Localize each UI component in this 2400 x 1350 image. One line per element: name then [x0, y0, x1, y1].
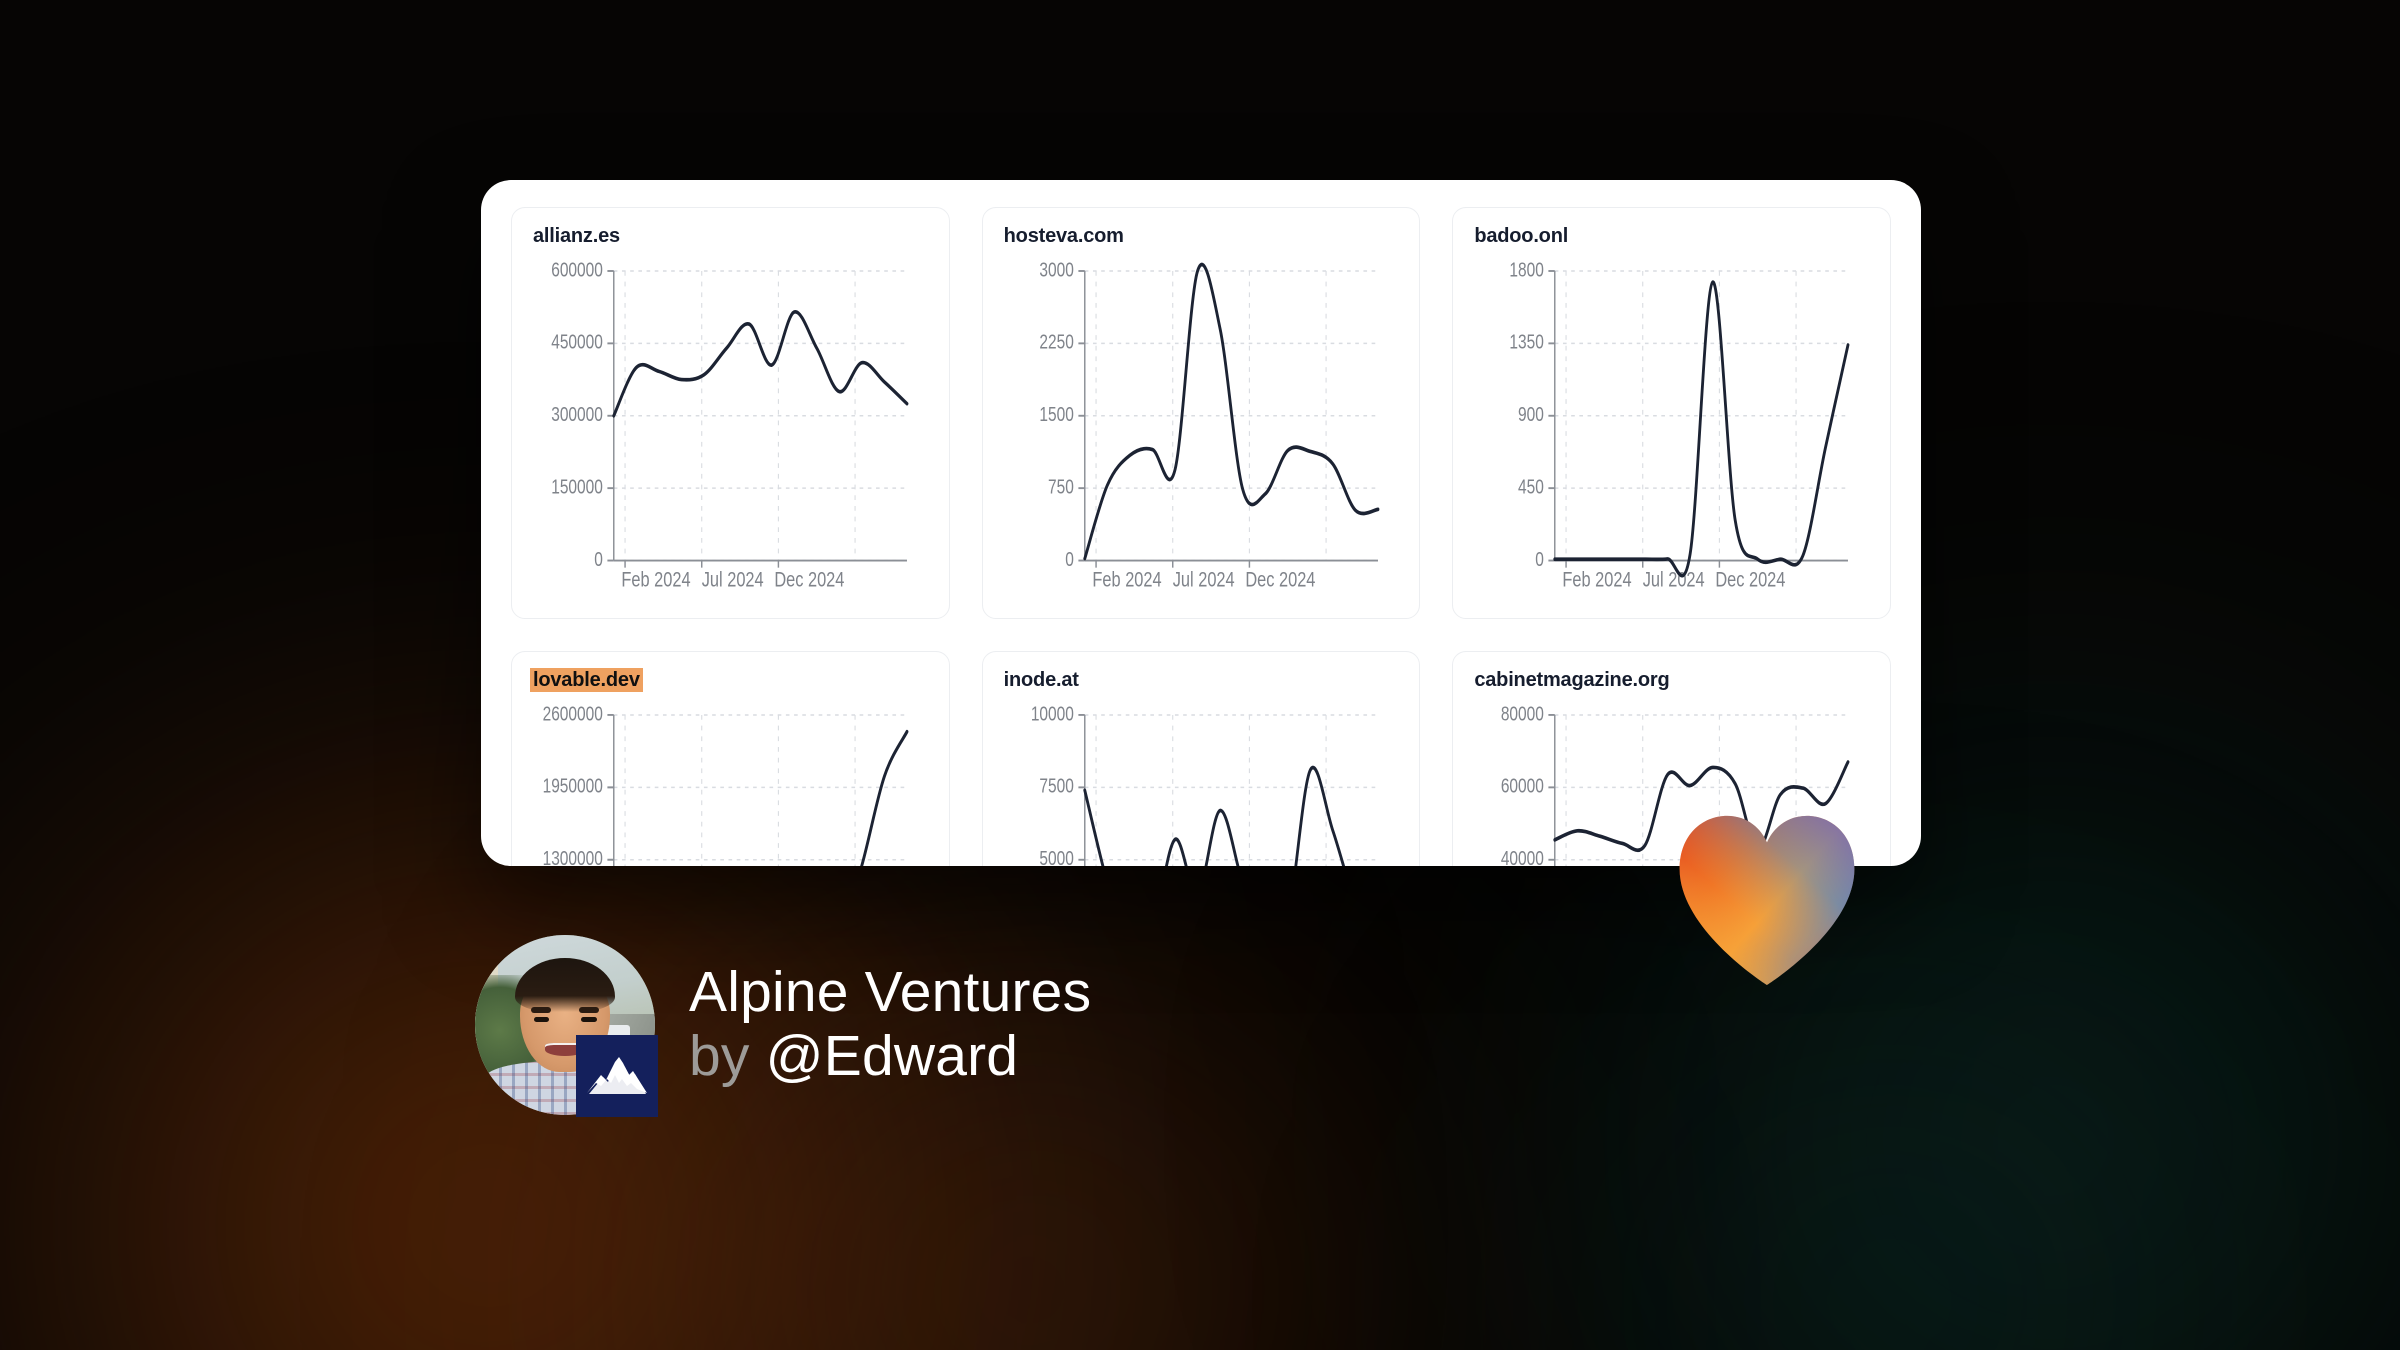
brand-byline: by @Edward [689, 1025, 1091, 1089]
svg-text:0: 0 [1536, 548, 1545, 570]
svg-text:0: 0 [1065, 548, 1074, 570]
svg-text:60000: 60000 [1501, 775, 1544, 797]
svg-text:450: 450 [1518, 476, 1544, 498]
svg-text:1950000: 1950000 [543, 775, 603, 797]
chart-grid: allianz.es0150000300000450000600000Feb 2… [481, 180, 1921, 866]
chart-title[interactable]: cabinetmagazine.org [1471, 668, 1672, 692]
byline-prefix: by [689, 1024, 750, 1088]
chart-title[interactable]: allianz.es [530, 224, 623, 248]
svg-text:40000: 40000 [1501, 847, 1544, 866]
svg-text:1350: 1350 [1510, 331, 1544, 353]
avatar-eye-right [581, 1017, 596, 1022]
svg-text:3000: 3000 [1039, 258, 1073, 280]
svg-text:Dec 2024: Dec 2024 [1716, 569, 1786, 593]
svg-text:1800: 1800 [1510, 258, 1544, 280]
heart-icon [1672, 812, 1862, 987]
svg-text:7500: 7500 [1039, 775, 1073, 797]
svg-text:600000: 600000 [551, 258, 603, 280]
avatar-group [475, 935, 655, 1115]
chart-title[interactable]: lovable.dev [530, 668, 643, 692]
mountain-icon [576, 1035, 658, 1117]
svg-text:Feb 2024: Feb 2024 [621, 569, 691, 593]
svg-text:10000: 10000 [1030, 702, 1073, 724]
identity-text: Alpine Ventures by @Edward [689, 961, 1091, 1089]
line-chart: 25005000750010000 [1001, 696, 1402, 866]
avatar-brow-left [531, 1007, 551, 1013]
svg-text:900: 900 [1518, 403, 1544, 425]
chart-title[interactable]: badoo.onl [1471, 224, 1571, 248]
chart-title[interactable]: hosteva.com [1001, 224, 1127, 248]
avatar-brow-right [579, 1007, 599, 1013]
svg-text:0: 0 [594, 548, 603, 570]
avatar-eye-left [534, 1017, 549, 1022]
chart-card[interactable]: hosteva.com0750150022503000Feb 2024Jul 2… [982, 207, 1421, 619]
svg-text:150000: 150000 [551, 476, 603, 498]
svg-text:750: 750 [1048, 476, 1074, 498]
svg-text:5000: 5000 [1039, 847, 1073, 866]
svg-text:Jul 2024: Jul 2024 [1643, 569, 1705, 593]
chart-card[interactable]: allianz.es0150000300000450000600000Feb 2… [511, 207, 950, 619]
svg-text:80000: 80000 [1501, 702, 1544, 724]
line-chart: 0750150022503000Feb 2024Jul 2024Dec 2024 [1001, 252, 1402, 608]
footer-identity: Alpine Ventures by @Edward [475, 935, 1091, 1115]
svg-text:2600000: 2600000 [543, 702, 603, 724]
brand-name: Alpine Ventures [689, 961, 1091, 1025]
svg-text:300000: 300000 [551, 403, 603, 425]
svg-text:450000: 450000 [551, 331, 603, 353]
svg-text:2250: 2250 [1039, 331, 1073, 353]
brand-handle: @Edward [766, 1024, 1019, 1088]
svg-text:Jul 2024: Jul 2024 [702, 569, 764, 593]
line-chart: 0150000300000450000600000Feb 2024Jul 202… [530, 252, 931, 608]
chart-card[interactable]: badoo.onl045090013501800Feb 2024Jul 2024… [1452, 207, 1891, 619]
svg-text:Feb 2024: Feb 2024 [1563, 569, 1633, 593]
svg-text:Jul 2024: Jul 2024 [1172, 569, 1234, 593]
line-chart: 650000130000019500002600000 [530, 696, 931, 866]
svg-text:Feb 2024: Feb 2024 [1092, 569, 1162, 593]
chart-title[interactable]: inode.at [1001, 668, 1082, 692]
dashboard-panel: allianz.es0150000300000450000600000Feb 2… [481, 180, 1921, 866]
svg-text:Dec 2024: Dec 2024 [774, 569, 844, 593]
svg-text:1500: 1500 [1039, 403, 1073, 425]
chart-card[interactable]: lovable.dev650000130000019500002600000 [511, 651, 950, 866]
svg-text:Dec 2024: Dec 2024 [1245, 569, 1315, 593]
chart-card[interactable]: inode.at25005000750010000 [982, 651, 1421, 866]
svg-text:1300000: 1300000 [543, 847, 603, 866]
line-chart: 045090013501800Feb 2024Jul 2024Dec 2024 [1471, 252, 1872, 608]
